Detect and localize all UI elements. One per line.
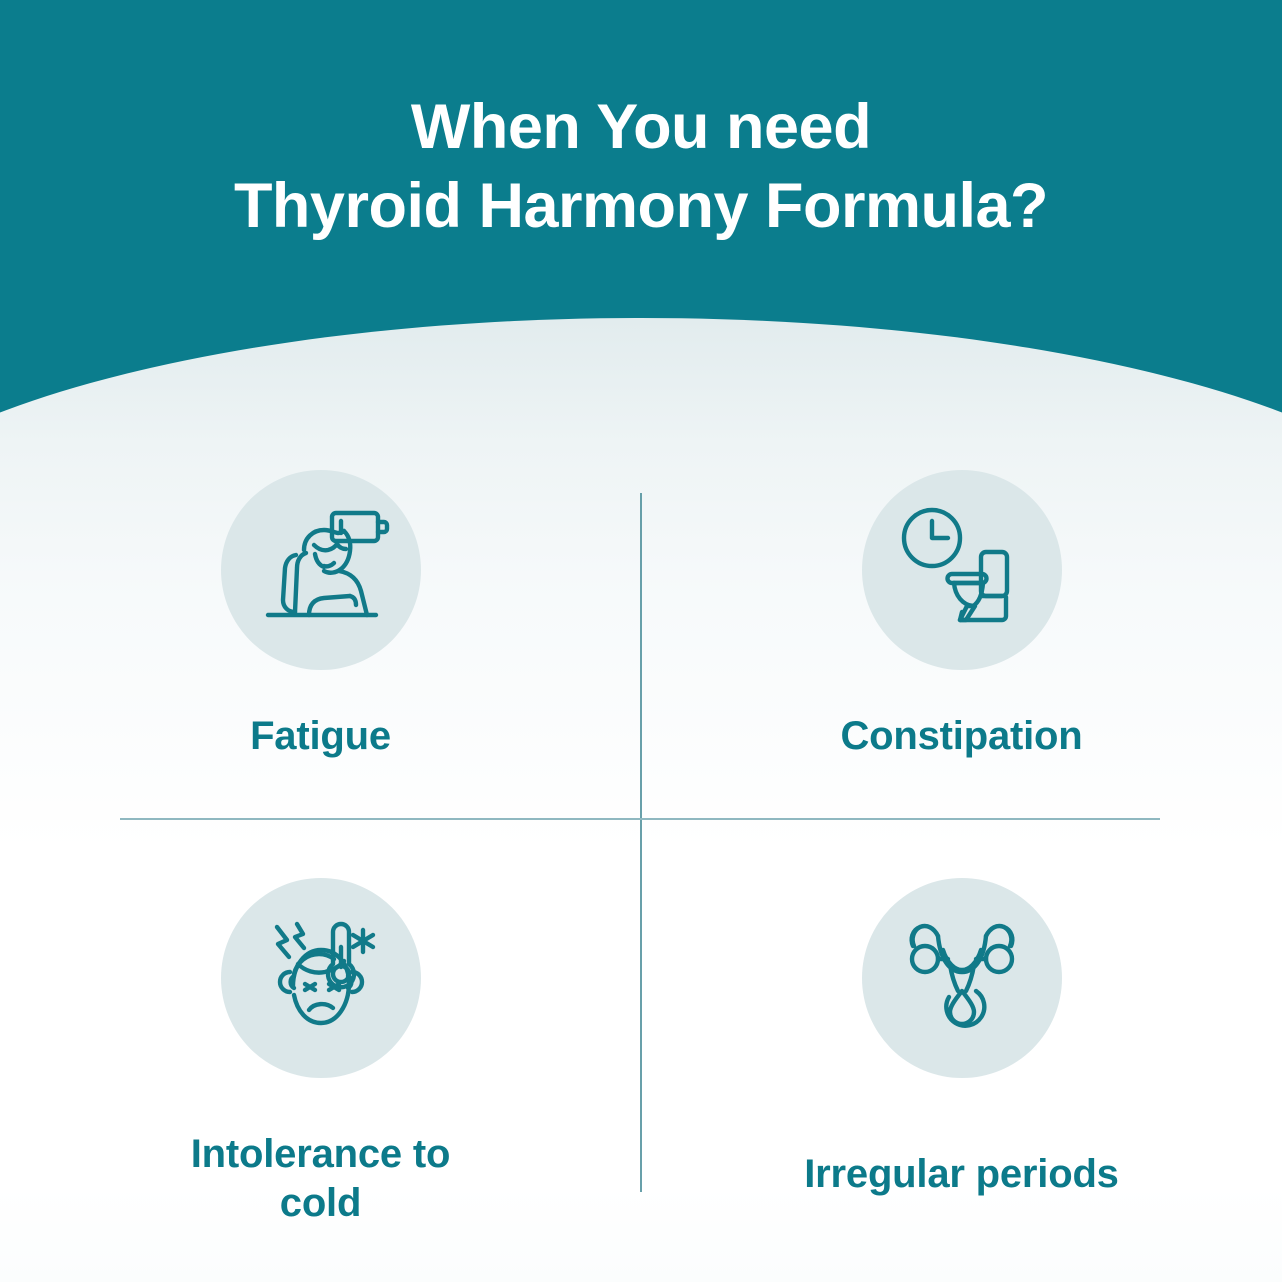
icon-badge-irregular-periods bbox=[862, 878, 1062, 1078]
symptom-cell-constipation: Constipation bbox=[641, 430, 1282, 830]
symptom-label-irregular-periods: Irregular periods bbox=[804, 1150, 1118, 1199]
poster-canvas: When You need Thyroid Harmony Formula? bbox=[0, 0, 1282, 1282]
cold-face-thermometer-icon bbox=[245, 902, 397, 1054]
page-title: When You need Thyroid Harmony Formula? bbox=[234, 88, 1048, 247]
icon-badge-fatigue bbox=[221, 470, 421, 670]
page-title-line-2: Thyroid Harmony Formula? bbox=[234, 167, 1048, 246]
symptom-grid: Fatigue bbox=[0, 430, 1282, 1230]
symptom-label-constipation: Constipation bbox=[840, 712, 1082, 761]
uterus-blood-drop-icon bbox=[887, 903, 1037, 1053]
toilet-clock-icon bbox=[887, 495, 1037, 645]
symptom-cell-fatigue: Fatigue bbox=[0, 430, 641, 830]
symptom-label-cold-intolerance: Intolerance to cold bbox=[156, 1130, 486, 1228]
symptom-label-fatigue: Fatigue bbox=[250, 712, 391, 761]
symptom-cell-irregular-periods: Irregular periods bbox=[641, 830, 1282, 1230]
symptom-cell-cold-intolerance: Intolerance to cold bbox=[0, 830, 641, 1230]
icon-badge-constipation bbox=[862, 470, 1062, 670]
icon-badge-cold-intolerance bbox=[221, 878, 421, 1078]
tired-person-low-battery-icon bbox=[246, 495, 396, 645]
header-banner: When You need Thyroid Harmony Formula? bbox=[0, 0, 1282, 300]
page-title-line-1: When You need bbox=[234, 88, 1048, 167]
